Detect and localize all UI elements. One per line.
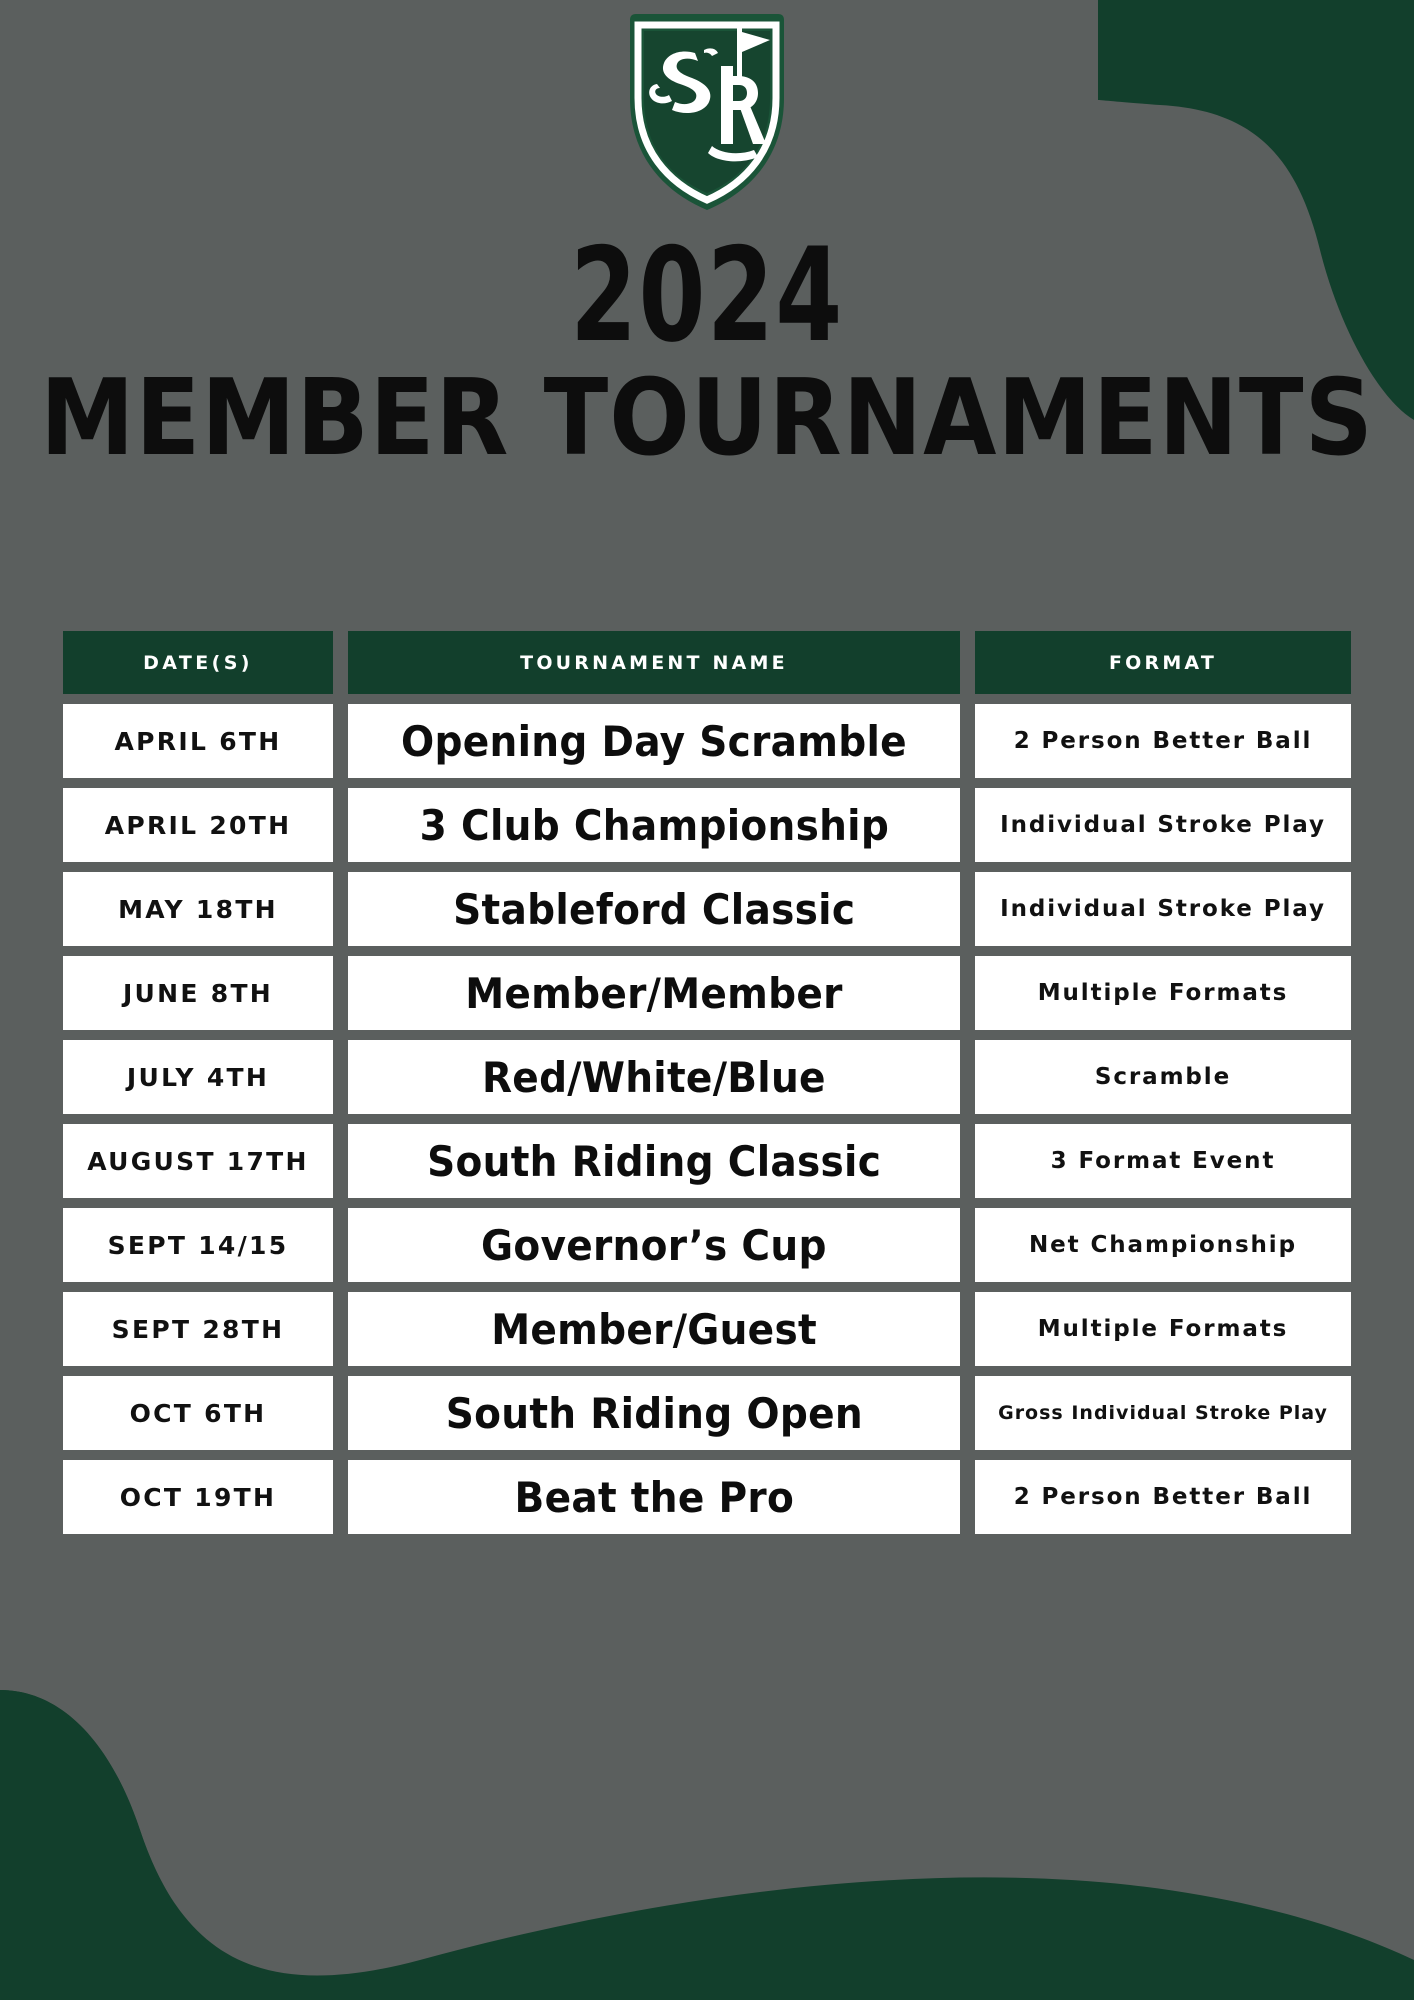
row-name-label: Opening Day Scramble: [401, 717, 907, 766]
row-name-label: South Riding Classic: [427, 1137, 881, 1186]
row-format-label: 2 Person Better Ball: [1014, 1484, 1313, 1510]
row-format-label: Multiple Formats: [1038, 1316, 1288, 1342]
row-format-label: 3 Format Event: [1051, 1148, 1276, 1174]
row-date-label: SEPT 28TH: [112, 1315, 285, 1344]
row-name-cell: Beat the Pro: [348, 1460, 960, 1534]
row-date-cell: JUNE 8TH: [63, 956, 333, 1030]
row-name-label: Red/White/Blue: [482, 1053, 826, 1102]
row-format-cell: 2 Person Better Ball: [975, 704, 1351, 778]
row-date-cell: SEPT 28TH: [63, 1292, 333, 1366]
row-name-label: Member/Member: [465, 969, 842, 1018]
table-row: JUNE 8TH Member/Member Multiple Formats: [63, 956, 1351, 1030]
row-format-cell: Individual Stroke Play: [975, 872, 1351, 946]
table-row: AUGUST 17TH South Riding Classic 3 Forma…: [63, 1124, 1351, 1198]
tournament-schedule-table: DATE(S) TOURNAMENT NAME FORMAT APRIL 6TH…: [63, 631, 1351, 1544]
row-date-label: AUGUST 17TH: [87, 1147, 309, 1176]
bottom-left-green-wave: [0, 1690, 360, 2000]
row-name-cell: South Riding Open: [348, 1376, 960, 1450]
row-date-cell: AUGUST 17TH: [63, 1124, 333, 1198]
table-row: JULY 4TH Red/White/Blue Scramble: [63, 1040, 1351, 1114]
row-format-cell: Multiple Formats: [975, 1292, 1351, 1366]
row-name-cell: Red/White/Blue: [348, 1040, 960, 1114]
row-date-label: OCT 6TH: [130, 1399, 267, 1428]
row-date-label: JULY 4TH: [127, 1063, 269, 1092]
table-row: SEPT 28TH Member/Guest Multiple Formats: [63, 1292, 1351, 1366]
row-date-cell: JULY 4TH: [63, 1040, 333, 1114]
row-date-label: APRIL 6TH: [115, 727, 282, 756]
row-format-label: Gross Individual Stroke Play: [998, 1402, 1328, 1424]
row-format-cell: Net Championship: [975, 1208, 1351, 1282]
row-name-cell: South Riding Classic: [348, 1124, 960, 1198]
column-header-tournament-name-label: TOURNAMENT NAME: [520, 652, 788, 674]
row-format-label: Net Championship: [1029, 1232, 1297, 1258]
table-row: OCT 19TH Beat the Pro 2 Person Better Ba…: [63, 1460, 1351, 1534]
table-row: SEPT 14/15 Governor’s Cup Net Championsh…: [63, 1208, 1351, 1282]
row-format-cell: 2 Person Better Ball: [975, 1460, 1351, 1534]
row-name-label: 3 Club Championship: [419, 801, 888, 850]
row-name-cell: 3 Club Championship: [348, 788, 960, 862]
row-date-cell: APRIL 20TH: [63, 788, 333, 862]
row-date-label: JUNE 8TH: [123, 979, 273, 1008]
page-title-year: 2024: [141, 232, 1272, 362]
row-date-label: OCT 19TH: [120, 1483, 277, 1512]
row-format-label: Multiple Formats: [1038, 980, 1288, 1006]
title-block: 2024 MEMBER TOURNAMENTS: [0, 232, 1414, 461]
table-row: OCT 6TH South Riding Open Gross Individu…: [63, 1376, 1351, 1450]
row-date-label: MAY 18TH: [118, 895, 278, 924]
row-date-cell: MAY 18TH: [63, 872, 333, 946]
row-format-cell: 3 Format Event: [975, 1124, 1351, 1198]
column-header-dates: DATE(S): [63, 631, 333, 694]
row-name-label: South Riding Open: [445, 1389, 862, 1438]
south-riding-shield-logo: [620, 6, 794, 216]
row-name-cell: Governor’s Cup: [348, 1208, 960, 1282]
row-format-label: Individual Stroke Play: [1000, 896, 1326, 922]
row-date-cell: APRIL 6TH: [63, 704, 333, 778]
row-format-label: Scramble: [1095, 1064, 1231, 1090]
column-header-dates-label: DATE(S): [143, 652, 253, 674]
row-name-cell: Member/Guest: [348, 1292, 960, 1366]
column-header-format-label: FORMAT: [1109, 652, 1217, 674]
row-date-label: SEPT 14/15: [108, 1231, 289, 1260]
row-name-cell: Member/Member: [348, 956, 960, 1030]
row-format-cell: Scramble: [975, 1040, 1351, 1114]
row-format-label: Individual Stroke Play: [1000, 812, 1326, 838]
row-name-label: Member/Guest: [491, 1305, 817, 1354]
row-date-cell: OCT 19TH: [63, 1460, 333, 1534]
table-row: APRIL 20TH 3 Club Championship Individua…: [63, 788, 1351, 862]
row-name-label: Beat the Pro: [514, 1473, 794, 1522]
column-header-format: FORMAT: [975, 631, 1351, 694]
row-name-label: Governor’s Cup: [481, 1221, 827, 1270]
column-header-tournament-name: TOURNAMENT NAME: [348, 631, 960, 694]
row-date-label: APRIL 20TH: [105, 811, 292, 840]
row-format-cell: Gross Individual Stroke Play: [975, 1376, 1351, 1450]
logo-container: [0, 6, 1414, 216]
row-format-cell: Multiple Formats: [975, 956, 1351, 1030]
table-row: APRIL 6TH Opening Day Scramble 2 Person …: [63, 704, 1351, 778]
row-name-cell: Opening Day Scramble: [348, 704, 960, 778]
row-date-cell: SEPT 14/15: [63, 1208, 333, 1282]
table-header-row: DATE(S) TOURNAMENT NAME FORMAT: [63, 631, 1351, 694]
row-format-cell: Individual Stroke Play: [975, 788, 1351, 862]
row-name-cell: Stableford Classic: [348, 872, 960, 946]
page-title-heading: MEMBER TOURNAMENTS: [0, 364, 1414, 474]
table-row: MAY 18TH Stableford Classic Individual S…: [63, 872, 1351, 946]
bottom-green-band: [0, 1690, 1414, 2000]
row-format-label: 2 Person Better Ball: [1014, 728, 1313, 754]
row-date-cell: OCT 6TH: [63, 1376, 333, 1450]
row-name-label: Stableford Classic: [453, 885, 855, 934]
